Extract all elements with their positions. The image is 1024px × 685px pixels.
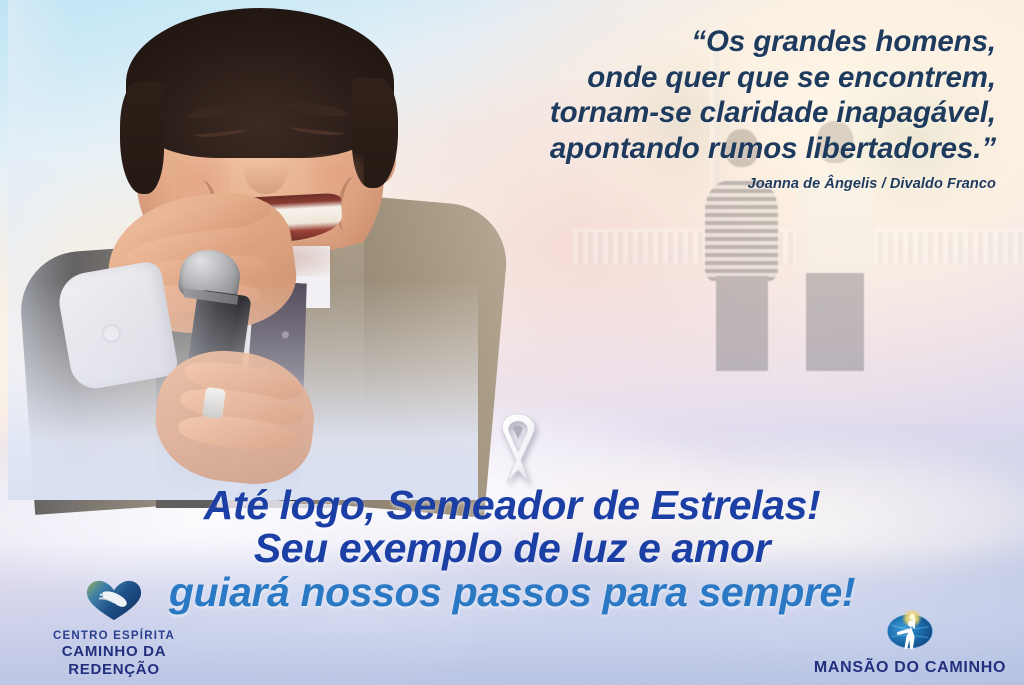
memorial-poster: “Os grandes homens, onde quer que se enc… [0, 0, 1024, 685]
person-legs [716, 276, 769, 371]
white-ribbon-icon [487, 408, 549, 486]
quote-block: “Os grandes homens, onde quer que se enc… [436, 24, 996, 192]
hair-sideburn-left [120, 82, 164, 194]
headline-line-1: Até logo, Semeador de Estrelas! [0, 484, 1024, 526]
quote-line-1: “Os grandes homens, [436, 24, 996, 60]
cuff-button [104, 326, 119, 341]
quote-line-4: apontando rumos libertadores.” [436, 131, 996, 167]
shirt-cuff [55, 260, 180, 393]
ring [202, 387, 226, 419]
globe-figure-torch-icon [810, 606, 1010, 656]
person-legs [806, 273, 864, 371]
portrait-divaldo-franco [8, 0, 478, 500]
person-torso [705, 181, 778, 281]
logo-right-line-1: MANSÃO DO CAMINHO [810, 658, 1010, 677]
nose [244, 142, 288, 194]
logo-left-line-2: CAMINHO DA REDENÇÃO [14, 643, 214, 679]
logo-centro-espirita: CENTRO ESPÍRITA CAMINHO DA REDENÇÃO [14, 579, 214, 679]
headline-line-2: Seu exemplo de luz e amor [0, 526, 1024, 570]
logo-left-line-1: CENTRO ESPÍRITA [14, 629, 214, 643]
quote-line-2: onde quer que se encontrem, [436, 60, 996, 96]
quote-line-3: tornam-se claridade inapagável, [436, 95, 996, 131]
quote-attribution: Joanna de Ângelis / Divaldo Franco [436, 176, 996, 192]
hands-heart-icon [14, 579, 214, 627]
logo-mansao-do-caminho: MANSÃO DO CAMINHO [810, 606, 1010, 677]
